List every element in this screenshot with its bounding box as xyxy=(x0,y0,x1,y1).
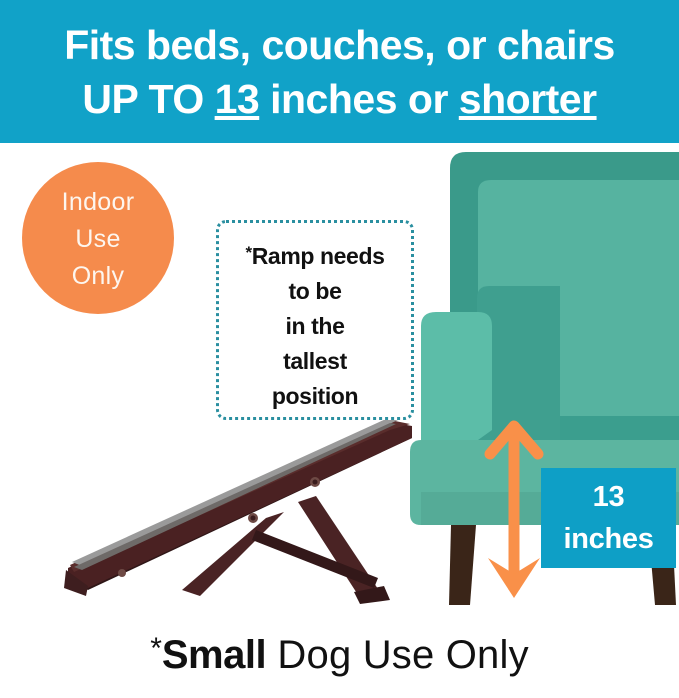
header-banner: Fits beds, couches, or chairs UP TO 13 i… xyxy=(0,0,679,143)
couch-leg-front xyxy=(449,525,476,605)
espresso-pet-ramp-illustration xyxy=(60,410,430,620)
ramp-bolt-lower xyxy=(118,569,126,577)
header-line-2-suffix: shorter xyxy=(459,76,597,122)
callout-line-1-text: Ramp needs xyxy=(252,243,385,269)
callout-line-1: *Ramp needs xyxy=(246,235,385,274)
height-dimension-arrow-icon xyxy=(478,418,550,603)
header-line-2: UP TO 13 inches or shorter xyxy=(82,73,596,125)
indoor-use-only-badge: Indoor Use Only xyxy=(22,162,174,314)
callout-line-5: position xyxy=(272,379,358,414)
badge-line-2: Use xyxy=(75,221,120,258)
badge-line-3: Only xyxy=(72,258,125,295)
badge-line-1: Indoor xyxy=(62,184,135,221)
callout-line-2: to be xyxy=(289,274,342,309)
ramp-bolt-mid-core xyxy=(251,516,256,521)
promo-image-root: Fits beds, couches, or chairs UP TO 13 i… xyxy=(0,0,679,698)
dimension-unit: inches xyxy=(563,518,653,560)
footer-asterisk: * xyxy=(150,632,162,665)
dimension-value: 13 xyxy=(593,476,625,518)
callout-line-3: in the xyxy=(286,309,345,344)
ramp-position-callout: *Ramp needs to be in the tallest positio… xyxy=(216,220,414,420)
ramp-bolt-upper-core xyxy=(313,480,318,485)
header-line-1: Fits beds, couches, or chairs xyxy=(64,19,615,71)
footer-bold-text: Small xyxy=(162,633,266,677)
dimension-label-box: 13 inches xyxy=(541,468,676,568)
footer-caption: *Small Dog Use Only xyxy=(0,632,679,678)
callout-line-4: tallest xyxy=(283,344,347,379)
ramp-rail-stripe xyxy=(72,418,398,566)
ramp-cross-brace xyxy=(252,530,378,588)
header-line-2-number: 13 xyxy=(215,76,260,122)
header-line-2-prefix: UP TO xyxy=(82,76,214,122)
header-line-2-middle: inches or xyxy=(259,76,459,122)
footer-light-text: Dog Use Only xyxy=(266,633,529,677)
